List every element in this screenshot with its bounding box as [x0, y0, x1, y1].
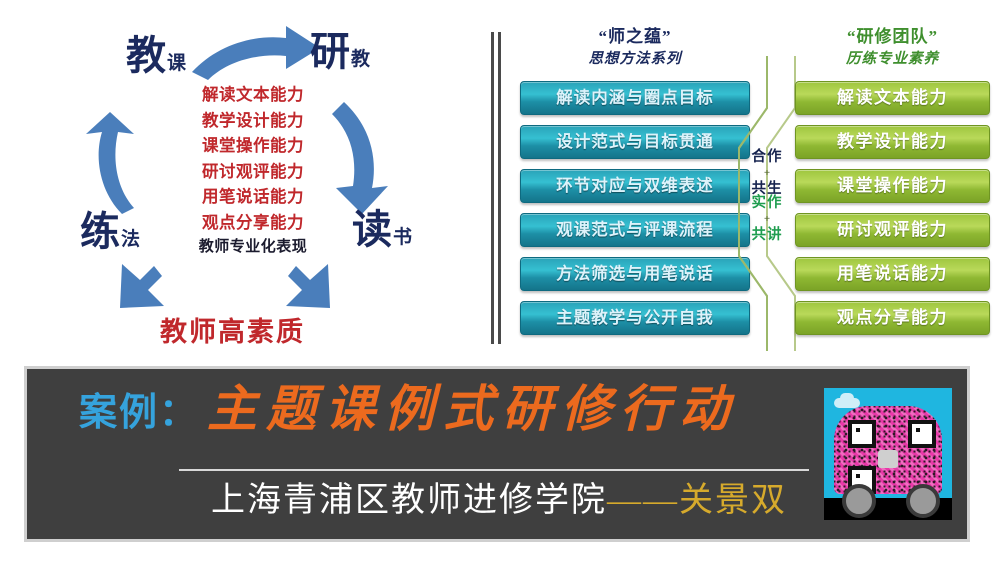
cycle-node-sub-char: 教	[351, 49, 370, 70]
vertical-divider-bar	[491, 32, 494, 344]
connector-line: 共生	[741, 182, 793, 197]
qr-finder-pattern	[908, 420, 936, 448]
cycle-ability-item: 解读文本能力	[178, 82, 328, 108]
cycle-node-main-char: 读	[352, 207, 393, 252]
slide-canvas: 教课 研教 读书 练法 解读文本能力 教学设计能力 课堂操作能力 研讨观评能力 …	[0, 0, 1000, 562]
cycle-ability-item: 课堂操作能力	[178, 133, 328, 159]
middle-column: “师之蕴” 思想方法系列 解读内涵与圈点目标 设计范式与目标贯通 环节对应与双维…	[520, 28, 750, 345]
cycle-ability-summary: 教师专业化表现	[178, 235, 328, 261]
cycle-node-sub-char: 法	[121, 229, 140, 250]
banner-author: ——关景双	[607, 482, 787, 519]
middle-chip[interactable]: 解读内涵与圈点目标	[520, 81, 750, 115]
cycle-ability-item: 用笔说话能力	[178, 184, 328, 210]
banner-title: 主题课例式研修行动	[207, 381, 738, 439]
vertical-divider-bar	[498, 32, 501, 344]
banner-subtitle: 上海青浦区教师进修学院——关景双	[179, 479, 819, 523]
right-column: “研修团队” 历练专业素养 解读文本能力 教学设计能力 课堂操作能力 研讨观评能…	[795, 28, 990, 345]
cycle-node-sub-char: 课	[167, 53, 186, 74]
banner-divider-rule	[179, 469, 809, 471]
qr-code-car-image[interactable]	[824, 388, 952, 520]
cycle-ability-item: 教学设计能力	[178, 108, 328, 134]
cycle-ability-item: 观点分享能力	[178, 210, 328, 236]
middle-column-subtitle: 思想方法系列	[520, 52, 750, 67]
qr-center-logo	[878, 450, 898, 468]
middle-chip[interactable]: 观课范式与评课流程	[520, 213, 750, 247]
collaboration-text-block: 合作 + 共生 实作 + 共讲	[741, 150, 793, 242]
cycle-arrow-top	[186, 22, 326, 84]
middle-chip[interactable]: 环节对应与双维表述	[520, 169, 750, 203]
right-chip[interactable]: 课堂操作能力	[795, 169, 990, 203]
banner-institution: 上海青浦区教师进修学院	[211, 482, 607, 519]
middle-column-title: “师之蕴”	[520, 28, 750, 45]
cycle-node-main-char: 教	[126, 33, 167, 78]
qr-finder-pattern	[848, 420, 876, 448]
cycle-arrow-left	[82, 110, 142, 220]
right-chip[interactable]: 解读文本能力	[795, 81, 990, 115]
cycle-outcome-title: 教师高素质	[160, 310, 305, 349]
right-chip[interactable]: 教学设计能力	[795, 125, 990, 159]
cycle-node-du-shu: 读书	[352, 210, 412, 250]
banner-case-label: 案例：	[79, 394, 199, 432]
middle-column-header: “师之蕴” 思想方法系列	[520, 28, 750, 67]
teaching-cycle-diagram: 教课 研教 读书 练法 解读文本能力 教学设计能力 课堂操作能力 研讨观评能力 …	[0, 0, 480, 358]
right-chip[interactable]: 用笔说话能力	[795, 257, 990, 291]
right-column-header: “研修团队” 历练专业素养	[795, 28, 990, 67]
cycle-node-sub-char: 书	[393, 227, 412, 248]
connector-line: 共讲	[741, 228, 793, 243]
qr-car-wheel	[906, 484, 940, 518]
cycle-node-yan-jiao: 研教	[310, 32, 370, 72]
middle-chip[interactable]: 方法筛选与用笔说话	[520, 257, 750, 291]
cycle-ability-list: 解读文本能力 教学设计能力 课堂操作能力 研讨观评能力 用笔说话能力 观点分享能…	[178, 82, 328, 261]
qr-car-wheel	[842, 484, 876, 518]
middle-chip[interactable]: 设计范式与目标贯通	[520, 125, 750, 159]
cycle-node-lian-fa: 练法	[80, 212, 140, 252]
connector-plus: +	[741, 214, 793, 225]
cycle-node-main-char: 研	[310, 29, 351, 74]
middle-chip[interactable]: 主题教学与公开自我	[520, 301, 750, 335]
connector-plus: +	[741, 168, 793, 179]
cycle-node-main-char: 练	[80, 209, 121, 254]
connector-line: 实作	[741, 196, 793, 211]
connector-line: 合作	[741, 150, 793, 165]
right-column-title: “研修团队”	[795, 28, 990, 45]
cycle-node-jiao-ke: 教课	[126, 36, 186, 76]
cycle-arrow-right	[326, 96, 398, 218]
cycle-ability-item: 研讨观评能力	[178, 159, 328, 185]
cloud-icon	[834, 398, 860, 408]
right-column-subtitle: 历练专业素养	[795, 52, 990, 67]
right-chip[interactable]: 观点分享能力	[795, 301, 990, 335]
right-chip[interactable]: 研讨观评能力	[795, 213, 990, 247]
